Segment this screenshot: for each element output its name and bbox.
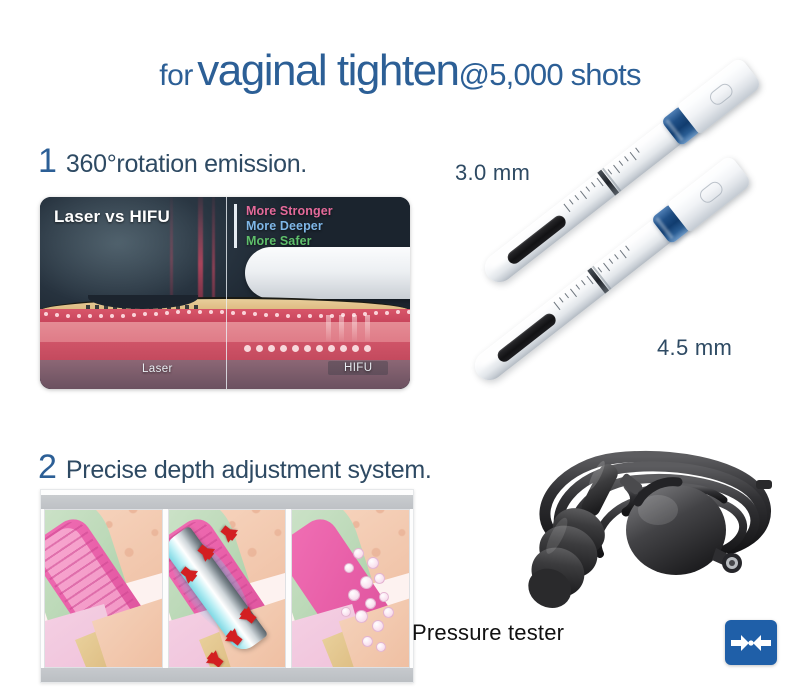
anatomy-panel-treatment (168, 509, 287, 668)
hifu-applicator-illustration (245, 247, 410, 299)
page-title: for vaginal tighten@5,000 shots (0, 46, 800, 96)
laser-beam (170, 197, 173, 309)
tubing-clip (756, 480, 772, 489)
section-label-1: 360°rotation emission. (66, 150, 307, 178)
lvh-title: Laser vs HIFU (54, 207, 170, 227)
title-prefix: for (159, 59, 193, 92)
pressure-tester-label: Pressure tester (412, 620, 564, 646)
collagen-bubble (372, 620, 384, 632)
anat-top-band (41, 495, 413, 509)
converge-arrows-glyph (730, 633, 772, 653)
probe-handle (667, 154, 753, 232)
collagen-bubble (365, 598, 376, 609)
lvh-caption-hifu: HIFU (328, 361, 388, 375)
hifu-focal-points (244, 337, 372, 363)
section-heading-1: 1360°rotation emission. (38, 142, 307, 181)
section-number-1: 1 (38, 142, 57, 180)
bulb-pump (626, 482, 742, 575)
depth-adjustment-image (40, 489, 414, 683)
lvh-benefit-list: More Stronger More Deeper More Safer (234, 204, 333, 248)
probe-depth-label-3mm: 3.0 mm (455, 160, 530, 186)
anatomy-panel-after (291, 509, 410, 668)
lvh-benefit-item: More Deeper (246, 219, 333, 234)
title-main: vaginal tighten (197, 46, 458, 95)
probe-button[interactable] (707, 81, 735, 108)
collagen-bubble (379, 592, 389, 602)
collagen-bubble (353, 548, 364, 559)
section-label-2: Precise depth adjustment system. (66, 456, 432, 484)
pressure-tester-image (520, 418, 792, 618)
collagen-bubble (348, 589, 360, 601)
probe-button[interactable] (697, 179, 725, 206)
inflatable-probe (520, 452, 639, 618)
lvh-benefit-item: More Stronger (246, 204, 333, 219)
anatomy-panel-before (44, 509, 163, 668)
section-number-2: 2 (38, 448, 57, 486)
pressure-tester-illustration (520, 418, 792, 618)
title-suffix: @5,000 shots (459, 57, 641, 92)
lvh-caption-laser: Laser (142, 363, 173, 375)
collagen-bubble (360, 576, 373, 589)
anat-bottom-band (41, 668, 413, 682)
anatomy-panel-group (44, 509, 410, 668)
collagen-bubble (362, 636, 373, 647)
probe-depth-label-4-5mm: 4.5 mm (657, 335, 732, 361)
lvh-benefit-item: More Safer (246, 234, 333, 249)
laser-vs-hifu-image: Laser vs HIFU More Stronger More Deeper … (40, 197, 410, 389)
section-heading-2: 2Precise depth adjustment system. (38, 448, 432, 487)
converge-arrows-icon[interactable] (725, 620, 777, 665)
collagen-bubble (374, 573, 385, 584)
collagen-bubble (367, 557, 379, 569)
lvh-split-divider (226, 197, 228, 389)
